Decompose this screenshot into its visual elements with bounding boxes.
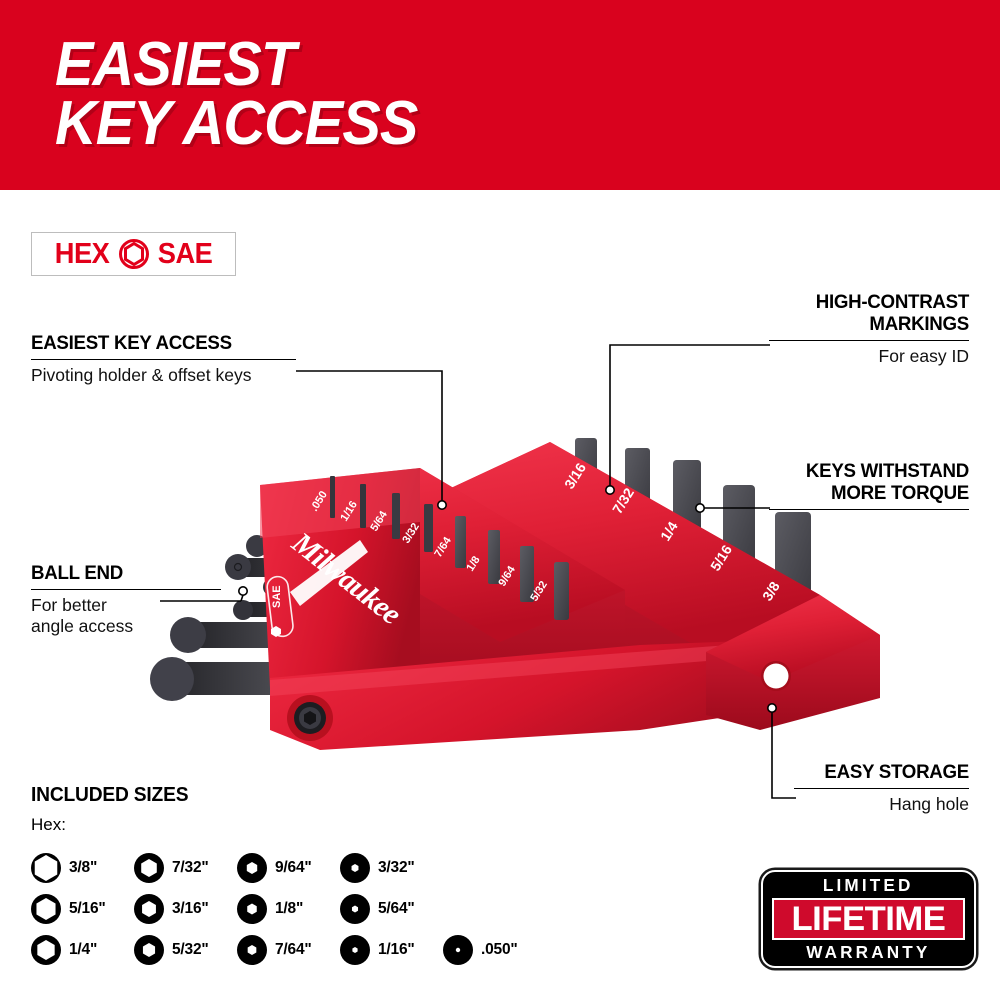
hex-socket-icon [340, 853, 370, 883]
callout-rule [31, 589, 221, 590]
callout-rule [769, 340, 969, 341]
size-cell: 3/32" [340, 847, 443, 888]
callout-subtitle: For better angle access [31, 595, 221, 638]
size-cell: 7/32" [134, 847, 237, 888]
hex-socket-icon [237, 894, 267, 924]
warranty-main-label: LIFETIME [792, 902, 946, 936]
size-cell: 1/4" [31, 929, 134, 970]
included-sizes-section: INCLUDED SIZES Hex: 3/8"7/32"9/64"3/32"5… [31, 784, 546, 970]
callout-rule [794, 788, 969, 789]
size-cell-empty [443, 847, 546, 888]
callout-title: EASY STORAGE [801, 762, 969, 784]
size-cell: 3/16" [134, 888, 237, 929]
hex-socket-icon [237, 935, 267, 965]
callout-title: EASIEST KEY ACCESS [31, 333, 285, 355]
size-label: 3/16" [172, 900, 209, 918]
callout-easy-storage: EASY STORAGE Hang hole [794, 762, 969, 815]
pivot-bolt [287, 695, 333, 741]
size-cell: 1/16" [340, 929, 443, 970]
badge-sae-label: SAE [157, 240, 212, 269]
hang-hole [761, 661, 791, 691]
callout-ball-end: BALL END For better angle access [31, 563, 221, 638]
warranty-top-label: LIMITED [823, 877, 914, 895]
callout-subtitle: Hang hole [794, 794, 969, 815]
hex-socket-icon [119, 239, 149, 269]
size-label: 1/4" [69, 941, 97, 959]
warranty-bottom-label: WARRANTY [806, 944, 930, 962]
hex-socket-icon [31, 935, 61, 965]
callout-rule [769, 509, 969, 510]
svg-text:SAE: SAE [271, 585, 283, 608]
size-label: 7/32" [172, 859, 209, 877]
included-sizes-heading: INCLUDED SIZES [31, 784, 525, 807]
callout-subtitle: For easy ID [769, 346, 969, 367]
size-cell: .050" [443, 929, 546, 970]
size-cell: 5/64" [340, 888, 443, 929]
callout-rule [31, 359, 296, 360]
hex-socket-icon [31, 853, 61, 883]
header-banner: EASIEST KEY ACCESS [0, 0, 1000, 190]
warranty-band: LIFETIME [772, 898, 965, 940]
limited-lifetime-warranty-badge: LIMITED LIFETIME WARRANTY [761, 870, 976, 968]
hex-socket-icon [134, 853, 164, 883]
page-title: EASIEST KEY ACCESS [55, 36, 417, 154]
hex-socket-icon [340, 894, 370, 924]
callout-title: BALL END [31, 563, 213, 585]
callout-keys-withstand-more-torque: KEYS WITHSTAND MORE TORQUE [769, 461, 969, 510]
size-label: 5/16" [69, 900, 106, 918]
size-label: 5/64" [378, 900, 415, 918]
hex-socket-icon [340, 935, 370, 965]
callout-title: HIGH-CONTRAST MARKINGS [777, 292, 969, 336]
size-cell: 5/16" [31, 888, 134, 929]
hex-socket-icon [134, 894, 164, 924]
size-label: .050" [481, 941, 518, 959]
badge-hex-label: HEX [55, 240, 110, 269]
hex-sae-badge: HEX SAE [31, 232, 236, 276]
hex-socket-icon [443, 935, 473, 965]
size-cell-empty [443, 888, 546, 929]
size-label: 5/32" [172, 941, 209, 959]
size-cell: 1/8" [237, 888, 340, 929]
callout-subtitle: Pivoting holder & offset keys [31, 365, 296, 386]
size-label: 3/8" [69, 859, 97, 877]
hex-socket-icon [134, 935, 164, 965]
size-label: 9/64" [275, 859, 312, 877]
included-sizes-grid: 3/8"7/32"9/64"3/32"5/16"3/16"1/8"5/64"1/… [31, 847, 546, 970]
size-cell: 9/64" [237, 847, 340, 888]
size-cell: 7/64" [237, 929, 340, 970]
callout-title: KEYS WITHSTAND MORE TORQUE [777, 461, 969, 505]
included-sizes-subheading: Hex: [31, 815, 546, 835]
hex-socket-icon [237, 853, 267, 883]
size-cell: 3/8" [31, 847, 134, 888]
size-cell: 5/32" [134, 929, 237, 970]
size-label: 1/16" [378, 941, 415, 959]
callout-high-contrast-markings: HIGH-CONTRAST MARKINGS For easy ID [769, 292, 969, 367]
callout-easiest-key-access: EASIEST KEY ACCESS Pivoting holder & off… [31, 333, 296, 386]
size-label: 1/8" [275, 900, 303, 918]
hex-socket-icon [31, 894, 61, 924]
size-label: 7/64" [275, 941, 312, 959]
size-label: 3/32" [378, 859, 415, 877]
